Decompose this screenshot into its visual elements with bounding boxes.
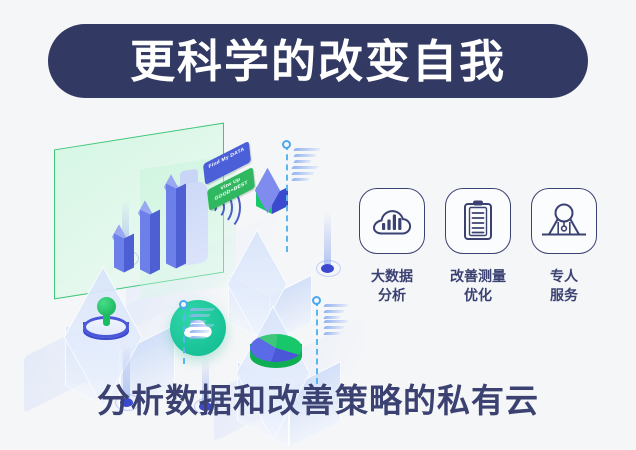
location-pin bbox=[320, 212, 334, 268]
cloud-bar-chart-icon bbox=[370, 202, 414, 240]
joystick-button bbox=[80, 300, 134, 350]
circle-node-icon bbox=[282, 140, 291, 149]
poster-canvas: 更科学的改变自我 bbox=[0, 0, 636, 450]
title-banner: 更科学的改变自我 bbox=[48, 24, 588, 98]
pie-chart bbox=[248, 330, 304, 378]
feature-label: 大数据 分析 bbox=[371, 267, 413, 305]
circle-node-icon bbox=[312, 296, 321, 305]
feature-list: 大数据 分析 改善测量 优化 bbox=[352, 188, 604, 305]
dashed-guide-line bbox=[286, 144, 288, 252]
feature-label: 改善测量 优化 bbox=[450, 267, 506, 305]
speed-ticks bbox=[292, 166, 318, 184]
speed-ticks bbox=[324, 320, 348, 338]
speed-ticks bbox=[190, 324, 214, 342]
cloud-bar-chart-icon-frame bbox=[359, 188, 425, 254]
feature-label: 专人 服务 bbox=[550, 267, 578, 305]
page-title: 更科学的改变自我 bbox=[130, 39, 506, 84]
dashed-guide-line bbox=[183, 304, 185, 364]
green-cube bbox=[251, 182, 291, 222]
dashed-guide-line bbox=[316, 300, 318, 384]
feature-big-data-analysis[interactable]: 大数据 分析 bbox=[352, 188, 432, 305]
support-agent-icon bbox=[540, 200, 588, 242]
speed-ticks bbox=[294, 148, 320, 166]
feature-dedicated-service[interactable]: 专人 服务 bbox=[524, 188, 604, 305]
tagline: 分析数据和改善策略的私有云 bbox=[0, 384, 636, 417]
feature-improvement-measurement[interactable]: 改善测量 优化 bbox=[438, 188, 518, 305]
circle-node-icon bbox=[179, 300, 188, 309]
clipboard-icon-frame bbox=[445, 188, 511, 254]
support-agent-icon-frame bbox=[531, 188, 597, 254]
clipboard-icon bbox=[458, 199, 498, 243]
isometric-illustration: Find My DATA Vitw Up GOOD+BEST bbox=[18, 122, 358, 377]
